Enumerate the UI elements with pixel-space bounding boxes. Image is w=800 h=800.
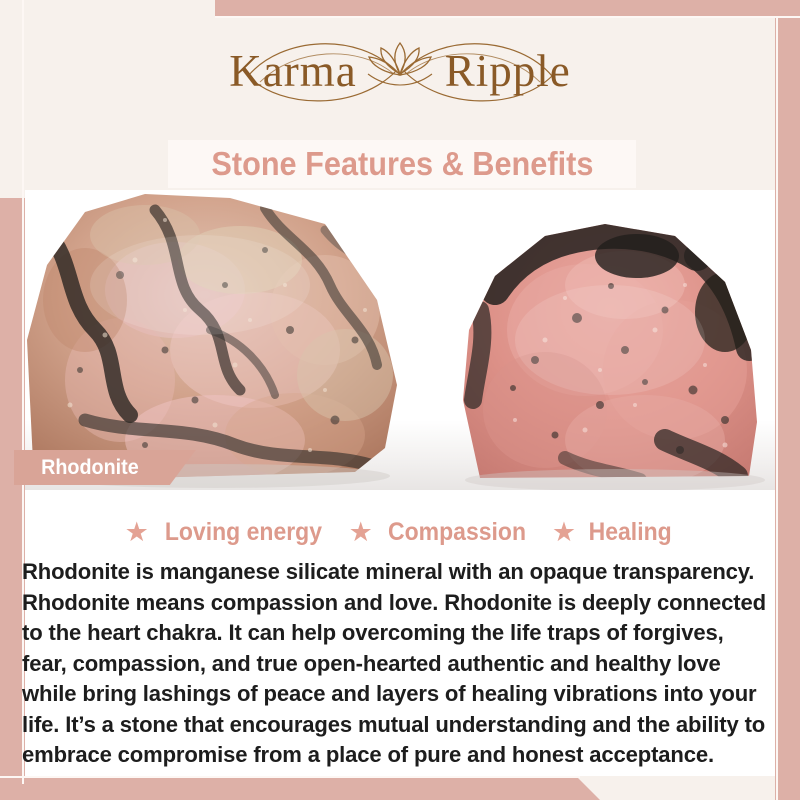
rhodonite-specimen-right: [445, 190, 775, 490]
brand-name-left: Karma: [229, 45, 356, 97]
benefit-item-1: ★ Compassion: [349, 518, 532, 547]
headline-banner: Stone Features & Benefits: [168, 140, 636, 188]
benefit-label-healing: Healing: [589, 518, 672, 547]
page-title: Stone Features & Benefits: [211, 145, 593, 183]
stone-photo: [25, 190, 775, 490]
star-icon: ★: [349, 519, 373, 546]
star-icon: ★: [125, 519, 149, 546]
benefit-label-compassion: Compassion: [388, 518, 526, 547]
benefits-row: ★ Loving energy ★ Compassion ★ Healing: [0, 518, 800, 547]
benefit-label-loving-energy: Loving energy: [165, 518, 322, 547]
rhodonite-specimen-left: [25, 190, 425, 490]
infographic-page: Karma Ripple Stone Features & Benefits: [0, 0, 800, 800]
stone-photo-illustration: [25, 190, 775, 490]
brand-name-right: Ripple: [445, 45, 571, 97]
benefit-item-2: ★ Healing: [552, 518, 676, 547]
star-icon: ★: [552, 519, 576, 546]
stone-description: Rhodonite is manganese silicate mineral …: [22, 557, 771, 771]
benefit-item-0: ★ Loving energy: [125, 518, 329, 547]
brand-logo: Karma Ripple: [0, 28, 800, 114]
stone-name-tag: Rhodonite: [14, 450, 196, 485]
stone-name-label: Rhodonite: [41, 456, 139, 480]
